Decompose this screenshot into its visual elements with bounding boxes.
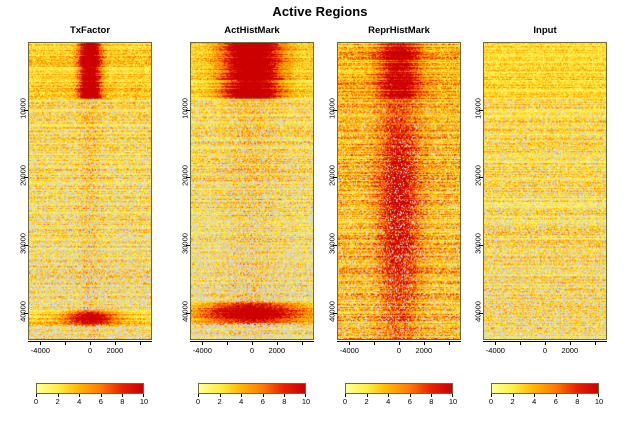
colorbar-gradient — [36, 383, 144, 394]
y-tick-label: 10000 — [181, 98, 190, 119]
heatmap-plot-reprhistmark — [337, 42, 461, 340]
colorbar-gradient — [491, 383, 599, 394]
x-tick — [399, 341, 400, 345]
x-tick — [520, 341, 521, 345]
colorbar-tick-label: 2 — [218, 397, 222, 406]
x-tick-label: 2000 — [106, 346, 123, 355]
y-tick-label: 40000 — [474, 301, 483, 322]
panel-title-input: Input — [483, 25, 607, 36]
colorbar-tick-label: 0 — [343, 397, 347, 406]
x-tick — [595, 341, 596, 345]
y-tick-label: 20000 — [328, 166, 337, 187]
colorbar-tick-label: 2 — [511, 397, 515, 406]
x-tick — [65, 341, 66, 345]
y-axis-reprhistmark: 10000200003000040000 — [332, 42, 337, 340]
x-tick — [140, 341, 141, 345]
x-tick-label: 2000 — [268, 346, 285, 355]
colorbar-tick-label: 6 — [261, 397, 265, 406]
heatmap-canvas-reprhistmark — [338, 43, 460, 339]
y-tick-label: 10000 — [19, 98, 28, 119]
colorbar-tick-label: 2 — [56, 397, 60, 406]
y-tick-label: 10000 — [328, 98, 337, 119]
colorbar-tick-label: 4 — [532, 397, 536, 406]
y-tick-label: 20000 — [474, 166, 483, 187]
heatmap-canvas-txfactor — [29, 43, 151, 339]
colorbar-gradient — [198, 383, 306, 394]
x-tick-label: 2000 — [561, 346, 578, 355]
colorbar-tick-label: 6 — [554, 397, 558, 406]
panel-title-acthistmark: ActHistMark — [190, 25, 314, 36]
figure-title: Active Regions — [0, 4, 640, 19]
y-tick-label: 20000 — [181, 166, 190, 187]
colorbar-tick-label: 2 — [365, 397, 369, 406]
colorbar-tick-label: 8 — [575, 397, 579, 406]
x-tick — [90, 341, 91, 345]
x-tick-label: -4000 — [340, 346, 359, 355]
heatmap-figure: Active Regions TxFactor10000200003000040… — [0, 0, 640, 427]
colorbar-tick-label: 0 — [34, 397, 38, 406]
x-tick — [202, 341, 203, 345]
panel-title-txfactor: TxFactor — [28, 25, 152, 36]
y-axis-input: 10000200003000040000 — [478, 42, 483, 340]
x-tick — [449, 341, 450, 345]
x-tick-label: -4000 — [31, 346, 50, 355]
y-tick-label: 30000 — [19, 233, 28, 254]
y-tick-label: 30000 — [181, 233, 190, 254]
x-tick — [115, 341, 116, 345]
x-tick — [252, 341, 253, 345]
x-tick-label: 0 — [397, 346, 401, 355]
x-tick-label: 0 — [250, 346, 254, 355]
colorbar-tick-label: 6 — [408, 397, 412, 406]
x-tick — [40, 341, 41, 345]
colorbar-tick-label: 10 — [595, 397, 603, 406]
panel-title-reprhistmark: ReprHistMark — [337, 25, 461, 36]
colorbar-tick-label: 6 — [99, 397, 103, 406]
colorbar-gradient — [345, 383, 453, 394]
y-tick-label: 40000 — [328, 301, 337, 322]
colorbar-tick-label: 8 — [282, 397, 286, 406]
colorbar-tick-label: 8 — [429, 397, 433, 406]
y-tick-label: 40000 — [19, 301, 28, 322]
colorbar-tick-label: 4 — [77, 397, 81, 406]
colorbar-tick-label: 10 — [302, 397, 310, 406]
y-axis-acthistmark: 10000200003000040000 — [185, 42, 190, 340]
colorbar-tick-label: 4 — [386, 397, 390, 406]
y-tick-label: 40000 — [181, 301, 190, 322]
colorbar-tick-label: 4 — [239, 397, 243, 406]
colorbar-tick-label: 10 — [140, 397, 148, 406]
x-tick — [545, 341, 546, 345]
x-tick — [424, 341, 425, 345]
y-axis-txfactor: 10000200003000040000 — [23, 42, 28, 340]
x-tick-label: -4000 — [193, 346, 212, 355]
x-tick — [374, 341, 375, 345]
heatmap-plot-txfactor — [28, 42, 152, 340]
colorbar-tick-label: 10 — [449, 397, 457, 406]
x-tick — [277, 341, 278, 345]
y-tick-label: 30000 — [328, 233, 337, 254]
colorbar-tick-label: 0 — [489, 397, 493, 406]
y-tick-label: 10000 — [474, 98, 483, 119]
heatmap-canvas-input — [484, 43, 606, 339]
x-tick-label: 0 — [88, 346, 92, 355]
heatmap-canvas-acthistmark — [191, 43, 313, 339]
x-tick — [495, 341, 496, 345]
x-tick-label: -4000 — [486, 346, 505, 355]
heatmap-plot-acthistmark — [190, 42, 314, 340]
y-tick-label: 20000 — [19, 166, 28, 187]
colorbar-tick-label: 0 — [196, 397, 200, 406]
x-tick — [227, 341, 228, 345]
y-tick-label: 30000 — [474, 233, 483, 254]
heatmap-plot-input — [483, 42, 607, 340]
colorbar-tick-label: 8 — [120, 397, 124, 406]
x-tick — [302, 341, 303, 345]
x-tick-label: 0 — [543, 346, 547, 355]
x-tick — [349, 341, 350, 345]
x-tick — [570, 341, 571, 345]
x-tick-label: 2000 — [415, 346, 432, 355]
